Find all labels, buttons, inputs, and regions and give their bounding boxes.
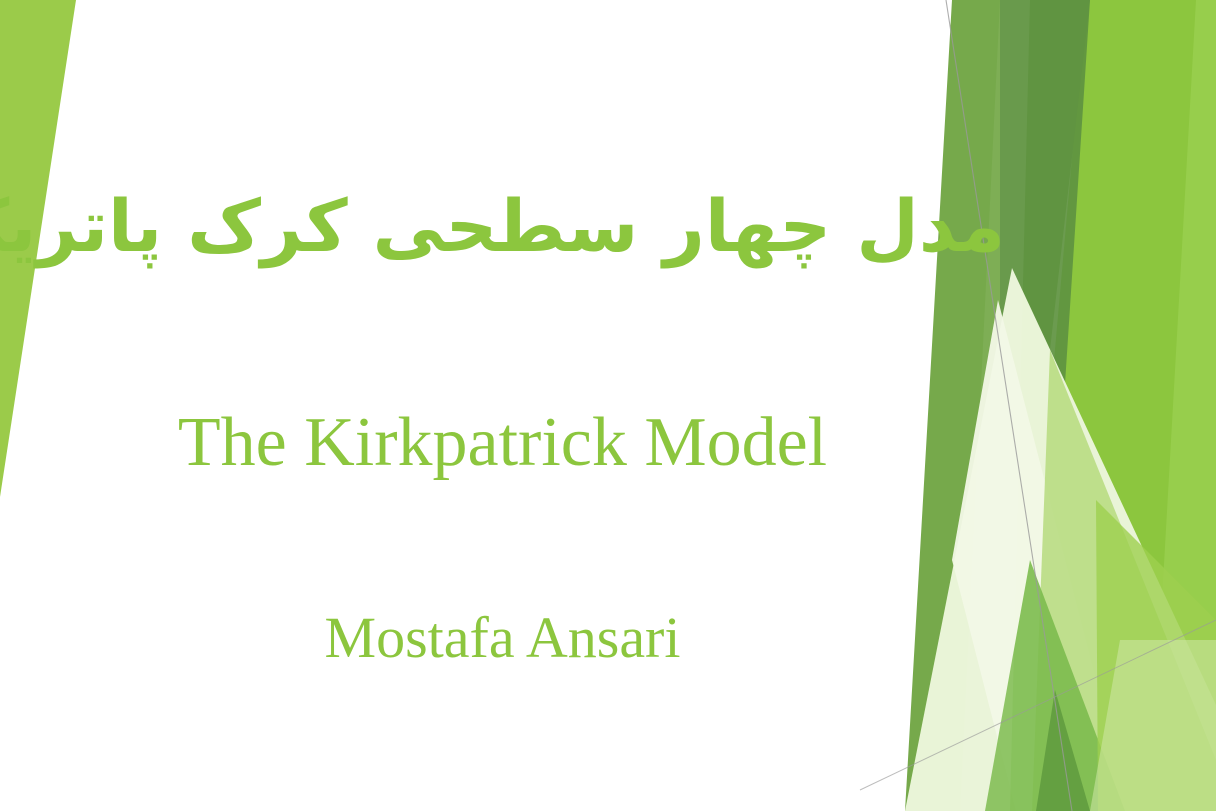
slide-author-name: Mostafa Ansari (0, 606, 1005, 670)
facet-right-sliver (1150, 0, 1216, 811)
facet-band-dark (1000, 0, 1090, 700)
slide-title-english: The Kirkpatrick Model (0, 404, 1005, 481)
facet-base-bright (1014, 0, 1216, 811)
facet-lower-bright-wedge (1096, 500, 1216, 811)
facet-light-triangle (1032, 350, 1216, 811)
facet-lower-blade (985, 560, 1125, 811)
facet-bottom-wash (1090, 640, 1216, 811)
presentation-slide: مدل چهار سطحی کرک پاتریک The Kirkpatrick… (0, 0, 1216, 811)
slide-title-persian: مدل چهار سطحی کرک پاتریک (0, 186, 1005, 267)
facet-dark-accent (1036, 690, 1090, 811)
slide-text-content: مدل چهار سطحی کرک پاتریک The Kirkpatrick… (0, 0, 1005, 811)
